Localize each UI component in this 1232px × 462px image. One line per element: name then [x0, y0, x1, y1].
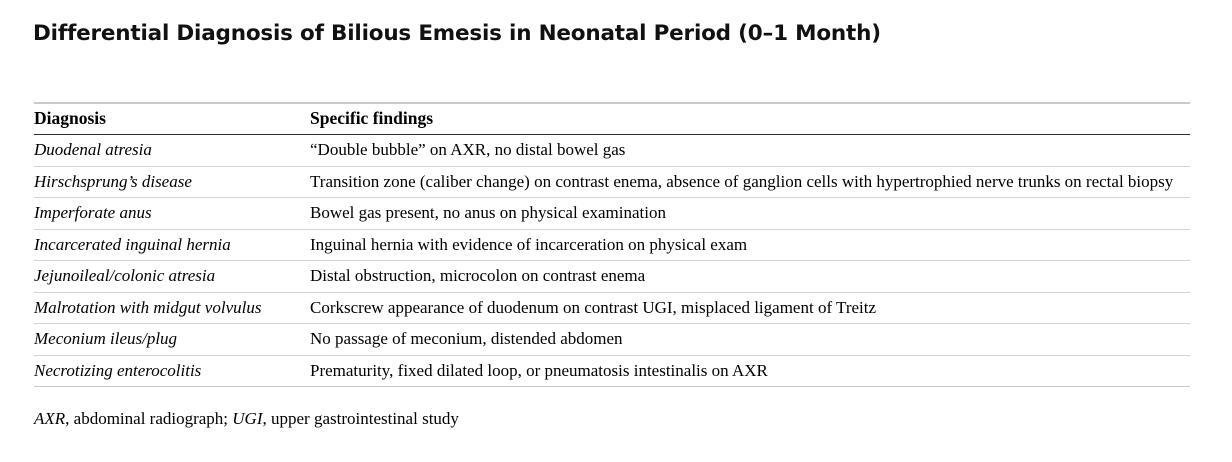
cell-findings: Transition zone (caliber change) on cont… — [310, 166, 1190, 198]
table-row: Jejunoileal/colonic atresia Distal obstr… — [34, 261, 1190, 293]
table-row: Hirschsprung’s disease Transition zone (… — [34, 166, 1190, 198]
table-row: Incarcerated inguinal hernia Inguinal he… — [34, 229, 1190, 261]
cell-findings: Bowel gas present, no anus on physical e… — [310, 198, 1190, 230]
cell-diagnosis: Malrotation with midgut volvulus — [34, 292, 310, 324]
cell-findings: Distal obstruction, microcolon on contra… — [310, 261, 1190, 293]
table-header-row: Diagnosis Specific findings — [34, 103, 1190, 135]
cell-findings: Prematurity, fixed dilated loop, or pneu… — [310, 355, 1190, 387]
table-row: Duodenal atresia “Double bubble” on AXR,… — [34, 135, 1190, 167]
cell-findings: “Double bubble” on AXR, no distal bowel … — [310, 135, 1190, 167]
cell-diagnosis: Jejunoileal/colonic atresia — [34, 261, 310, 293]
cell-diagnosis: Hirschsprung’s disease — [34, 166, 310, 198]
cell-diagnosis: Imperforate anus — [34, 198, 310, 230]
footnote-abbr-ugi: UGI — [232, 409, 262, 428]
cell-findings: Corkscrew appearance of duodenum on cont… — [310, 292, 1190, 324]
table-row: Meconium ileus/plug No passage of meconi… — [34, 324, 1190, 356]
cell-findings: No passage of meconium, distended abdome… — [310, 324, 1190, 356]
table-header: Diagnosis Specific findings — [34, 103, 1190, 135]
footnote-abbr-axr: AXR — [34, 409, 65, 428]
column-header-specific-findings: Specific findings — [310, 103, 1190, 135]
table-row: Imperforate anus Bowel gas present, no a… — [34, 198, 1190, 230]
cell-diagnosis: Meconium ileus/plug — [34, 324, 310, 356]
cell-diagnosis: Incarcerated inguinal hernia — [34, 229, 310, 261]
table-body: Duodenal atresia “Double bubble” on AXR,… — [34, 135, 1190, 387]
cell-diagnosis: Necrotizing enterocolitis — [34, 355, 310, 387]
differential-diagnosis-table: Diagnosis Specific findings Duodenal atr… — [34, 102, 1190, 387]
table-footnote: AXR, abdominal radiograph; UGI, upper ga… — [34, 408, 459, 429]
footnote-text-axr: , abdominal radiograph; — [65, 409, 232, 428]
document-page: Differential Diagnosis of Bilious Emesis… — [0, 0, 1232, 462]
cell-findings: Inguinal hernia with evidence of incarce… — [310, 229, 1190, 261]
footnote-text-ugi: , upper gastrointestinal study — [263, 409, 459, 428]
table-row: Malrotation with midgut volvulus Corkscr… — [34, 292, 1190, 324]
cell-diagnosis: Duodenal atresia — [34, 135, 310, 167]
table-row: Necrotizing enterocolitis Prematurity, f… — [34, 355, 1190, 387]
diagnosis-table-container: Diagnosis Specific findings Duodenal atr… — [34, 102, 1190, 387]
page-title: Differential Diagnosis of Bilious Emesis… — [33, 21, 881, 46]
column-header-diagnosis: Diagnosis — [34, 103, 310, 135]
